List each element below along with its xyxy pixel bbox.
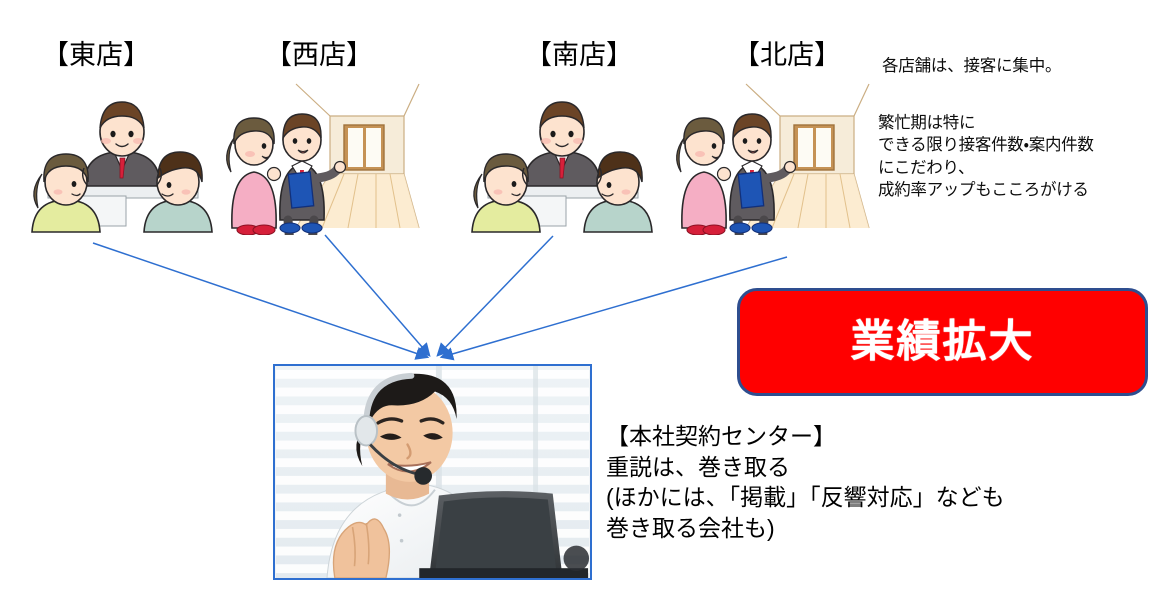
- arrow-west: [325, 235, 429, 355]
- slide-canvas: 【東店】 【西店】 【南店】 【北店】: [0, 0, 1172, 591]
- result-badge: 業績拡大: [737, 288, 1148, 396]
- arrow-north: [442, 257, 787, 357]
- contract-center-photo: [273, 364, 592, 580]
- store-label-south: 【南店】: [525, 42, 633, 69]
- store-illustration-north: [668, 78, 875, 235]
- notes-headline: 各店舗は、接客に集中。: [882, 55, 1061, 79]
- result-badge-label: 業績拡大: [851, 320, 1035, 364]
- store-label-north: 【北店】: [733, 42, 841, 69]
- store-label-east: 【東店】: [42, 42, 150, 69]
- store-illustration-east: [22, 82, 222, 235]
- arrow-south: [438, 236, 553, 355]
- store-label-west: 【西店】: [265, 42, 373, 69]
- contract-center-caption: 【本社契約センター】 重説は、巻き取る (ほかには、「掲載」「反響対応」なども …: [606, 421, 1005, 543]
- arrow-east: [93, 243, 427, 357]
- store-illustration-west: [218, 78, 425, 235]
- store-illustration-south: [462, 82, 662, 235]
- notes-body: 繁忙期は特に できる限り接客件数・案内件数 にこだわり、 成約率アップもこころが…: [878, 112, 1094, 202]
